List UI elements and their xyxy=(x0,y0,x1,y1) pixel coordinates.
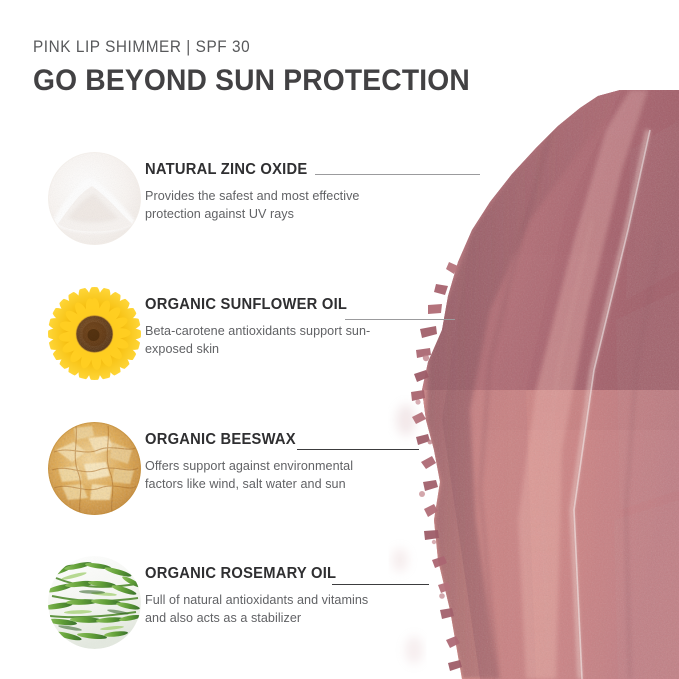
ingredient-item-organic-sunflower-oil: ORGANIC SUNFLOWER OIL Beta-carotene anti… xyxy=(0,285,430,395)
zinc-oxide-powder-image xyxy=(48,152,141,245)
product-eyebrow-text: PINK LIP SHIMMER | SPF 30 xyxy=(33,38,461,57)
ingredient-description: Beta-carotene antioxidants support sun-e… xyxy=(145,322,375,359)
beeswax-image xyxy=(48,422,141,515)
ingredient-title: ORGANIC SUNFLOWER OIL xyxy=(145,296,416,313)
ingredient-title: ORGANIC BEESWAX xyxy=(145,431,416,448)
ingredient-description: Offers support against environmental fac… xyxy=(145,457,375,494)
sunflower-image xyxy=(48,287,141,380)
ingredient-title: ORGANIC ROSEMARY OIL xyxy=(145,565,416,582)
rosemary-sprig-image xyxy=(48,556,141,649)
ingredient-text-organic-sunflower-oil: ORGANIC SUNFLOWER OIL Beta-carotene anti… xyxy=(145,296,430,359)
ingredient-text-natural-zinc-oxide: NATURAL ZINC OXIDE Provides the safest a… xyxy=(145,161,430,224)
ingredient-item-organic-beeswax: ORGANIC BEESWAX Offers support against e… xyxy=(0,420,430,530)
header: PINK LIP SHIMMER | SPF 30 GO BEYOND SUN … xyxy=(33,38,493,97)
ingredient-item-natural-zinc-oxide: NATURAL ZINC OXIDE Provides the safest a… xyxy=(0,150,430,260)
ingredient-text-organic-rosemary-oil: ORGANIC ROSEMARY OIL Full of natural ant… xyxy=(145,565,430,628)
ingredient-text-organic-beeswax: ORGANIC BEESWAX Offers support against e… xyxy=(145,431,430,494)
infographic-page: PINK LIP SHIMMER | SPF 30 GO BEYOND SUN … xyxy=(0,0,679,679)
ingredient-item-organic-rosemary-oil: ORGANIC ROSEMARY OIL Full of natural ant… xyxy=(0,554,430,664)
ingredient-description: Full of natural antioxidants and vitamin… xyxy=(145,591,375,628)
ingredient-description: Provides the safest and most effective p… xyxy=(145,187,375,224)
ingredient-title: NATURAL ZINC OXIDE xyxy=(145,161,416,178)
